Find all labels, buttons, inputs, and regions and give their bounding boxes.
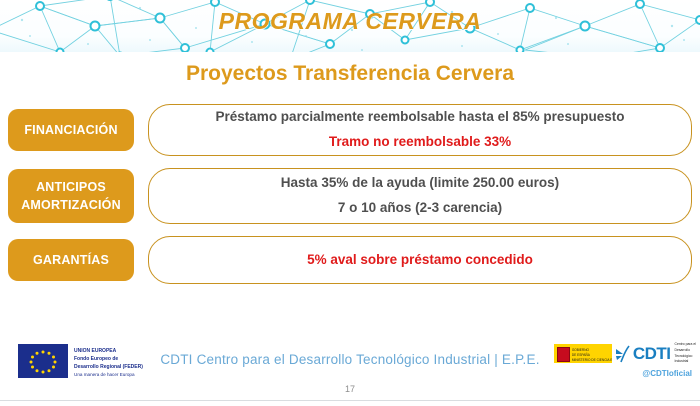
cdti-sub-line-4: Industrial bbox=[675, 359, 697, 365]
page-number: 17 bbox=[0, 384, 700, 394]
panel-line: Hasta 35% de la ayuda (limite 250.00 eur… bbox=[161, 171, 679, 196]
footer-divider bbox=[0, 400, 700, 401]
banner-title: PROGRAMA CERVERA bbox=[0, 8, 700, 35]
gobierno-text: GOBIERNO DE ESPAÑA MINISTERIO DE CIENCIA… bbox=[572, 348, 612, 362]
row-panel-garantias: 5% aval sobre préstamo concedido bbox=[148, 236, 692, 284]
row-label-line-2: AMORTIZACIÓN bbox=[12, 196, 130, 214]
panel-line: Préstamo parcialmente reembolsable hasta… bbox=[161, 105, 679, 130]
table-row: FINANCIACIÓN Préstamo parcialmente reemb… bbox=[0, 104, 700, 156]
row-panel-financiacion: Préstamo parcialmente reembolsable hasta… bbox=[148, 104, 692, 156]
cdti-wordmark: CDTI bbox=[633, 345, 671, 362]
table-row: GARANTÍAS 5% aval sobre préstamo concedi… bbox=[0, 236, 700, 284]
cdti-swoosh-icon bbox=[615, 345, 631, 363]
content-rows: FINANCIACIÓN Préstamo parcialmente reemb… bbox=[0, 104, 700, 296]
row-label-line-1: ANTICIPOS bbox=[12, 178, 130, 196]
gobierno-de-espana-logo: GOBIERNO DE ESPAÑA MINISTERIO DE CIENCIA… bbox=[554, 344, 612, 363]
spain-coat-of-arms-icon bbox=[557, 347, 570, 362]
row-label-financiacion: FINANCIACIÓN bbox=[8, 109, 134, 151]
row-label-anticipos-amortizacion: ANTICIPOS AMORTIZACIÓN bbox=[8, 169, 134, 223]
page-title: Proyectos Transferencia Cervera bbox=[0, 62, 700, 86]
cdti-subtext: Centro para el Desarrollo Tecnológico In… bbox=[673, 342, 697, 365]
cdti-logo-block: GOBIERNO DE ESPAÑA MINISTERIO DE CIENCIA… bbox=[554, 342, 696, 378]
row-label-garantias: GARANTÍAS bbox=[8, 239, 134, 281]
cdti-logo-row: GOBIERNO DE ESPAÑA MINISTERIO DE CIENCIA… bbox=[554, 342, 696, 365]
panel-line-accent: 5% aval sobre préstamo concedido bbox=[161, 248, 679, 273]
cdti-mark: CDTI Centro para el Desarrollo Tecnológi… bbox=[615, 342, 696, 365]
row-panel-anticipos: Hasta 35% de la ayuda (limite 250.00 eur… bbox=[148, 168, 692, 224]
cdti-sub-line-1: Centro para el bbox=[675, 342, 697, 348]
header-banner: PROGRAMA CERVERA bbox=[0, 0, 700, 52]
panel-line-accent: Tramo no reembolsable 33% bbox=[161, 130, 679, 155]
panel-line: 7 o 10 años (2-3 carencia) bbox=[161, 196, 679, 221]
table-row: ANTICIPOS AMORTIZACIÓN Hasta 35% de la a… bbox=[0, 168, 700, 224]
footer: UNION EUROPEA Fondo Europeo de Desarroll… bbox=[0, 334, 700, 406]
gobierno-line-3: MINISTERIO DE CIENCIA E INNOVACIÓN bbox=[572, 358, 612, 363]
eu-text-line-4: Una manera de hacer Europa bbox=[74, 371, 143, 378]
cdti-social-handle: @CDTIoficial bbox=[642, 369, 696, 378]
